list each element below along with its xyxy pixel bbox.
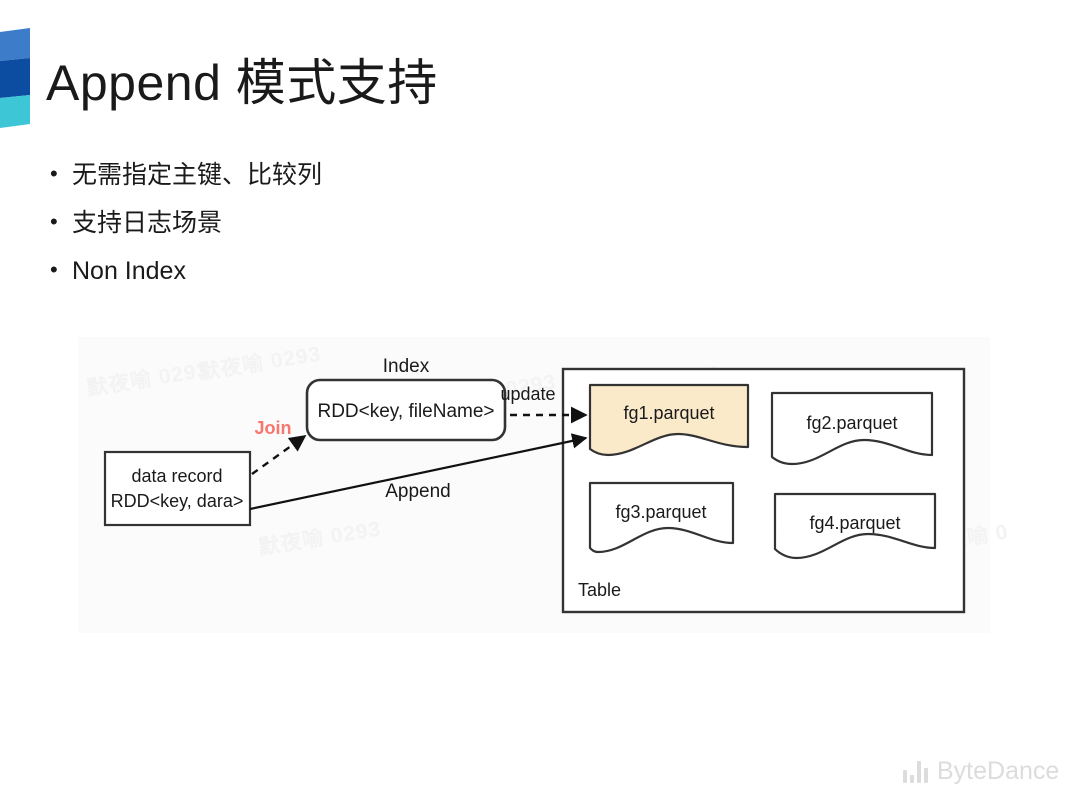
bullet-text: 支持日志场景 xyxy=(72,206,222,240)
architecture-diagram: 默夜喻 0293 默夜喻 0293 默夜喻 0293 默夜喻 0293 默夜喻 … xyxy=(78,337,990,633)
page-title: Append 模式支持 xyxy=(46,52,438,114)
bullet-text: Non Index xyxy=(72,254,186,288)
data-record-line2: RDD<key, dara> xyxy=(111,491,244,511)
company-name: ByteDance xyxy=(937,757,1059,786)
bar-chart-icon xyxy=(903,761,928,783)
bullet-list: • 无需指定主键、比较列 • 支持日志场景 • Non Index xyxy=(50,158,650,302)
bytedance-brand-mark-icon xyxy=(0,28,36,128)
file-label-fg2: fg2.parquet xyxy=(806,413,897,433)
append-label: Append xyxy=(385,481,451,502)
list-item: • 支持日志场景 xyxy=(50,206,650,240)
file-label-fg4: fg4.parquet xyxy=(809,513,900,533)
bytedance-footer-logo: ByteDance xyxy=(903,757,1059,786)
slide-canvas: Append 模式支持 • 无需指定主键、比较列 • 支持日志场景 • Non … xyxy=(0,0,1080,797)
bullet-text: 无需指定主键、比较列 xyxy=(72,158,322,192)
file-label-fg3: fg3.parquet xyxy=(615,502,706,522)
data-record-line1: data record xyxy=(131,466,222,486)
table-label: Table xyxy=(578,580,621,600)
index-label: Index xyxy=(383,356,430,377)
join-arrow xyxy=(252,436,305,474)
join-label: Join xyxy=(254,418,291,438)
list-item: • Non Index xyxy=(50,254,650,288)
diagram-canvas: Index RDD<key, fileName> Join data recor… xyxy=(78,337,990,633)
update-label: update xyxy=(500,384,555,404)
bullet-marker-icon: • xyxy=(50,158,72,190)
index-box-text: RDD<key, fileName> xyxy=(317,401,494,422)
list-item: • 无需指定主键、比较列 xyxy=(50,158,650,192)
bullet-marker-icon: • xyxy=(50,206,72,238)
bullet-marker-icon: • xyxy=(50,254,72,286)
data-record-box xyxy=(105,452,250,525)
file-label-fg1: fg1.parquet xyxy=(623,403,714,423)
